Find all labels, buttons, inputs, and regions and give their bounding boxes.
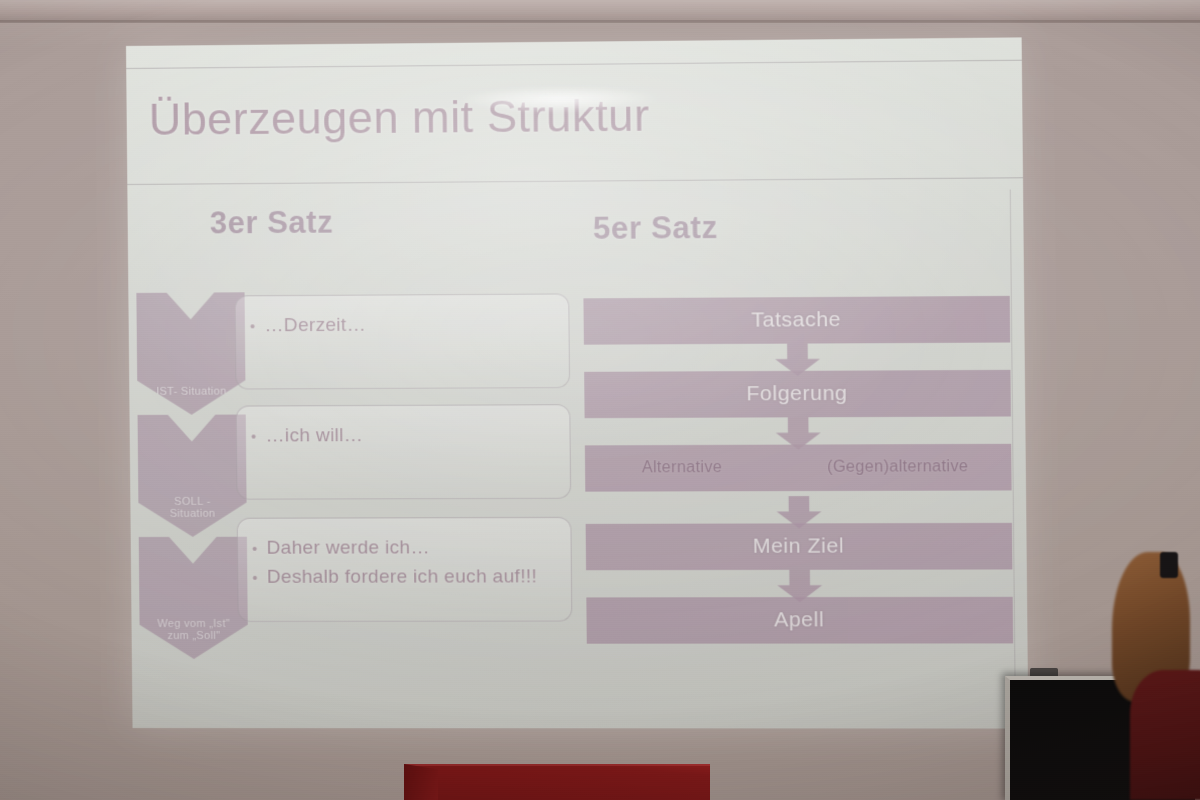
slide-title: Überzeugen mit Struktur	[148, 89, 649, 145]
chevron-label-soll: SOLL - Situation	[170, 495, 216, 520]
bar-label-mein-ziel: Mein Ziel	[752, 534, 844, 558]
bullet-glyph: •	[250, 319, 256, 334]
bullet-item: • Daher werde ich…	[252, 534, 555, 563]
projection-screen: Überzeugen mit Struktur 3er Satz 5er Sat…	[126, 37, 1028, 728]
header-rule-bottom	[127, 177, 1023, 185]
chevron-weg-ist-soll: Weg vom „Ist" zum „Soll"	[139, 537, 248, 659]
bar-label-tatsache: Tatsache	[751, 308, 841, 333]
label-alternative: Alternative	[642, 459, 722, 477]
bullet-text: Deshalb fordere ich euch auf!!!	[267, 563, 538, 592]
bullet-text: …Derzeit…	[264, 312, 366, 341]
wall-ceiling-trim	[0, 0, 1200, 22]
person-silhouette	[1112, 552, 1200, 800]
chevron-label-soll-line1: SOLL -	[174, 495, 210, 507]
bullet-item: • …ich will…	[251, 421, 554, 451]
bullet-glyph: •	[252, 570, 258, 585]
text-box-weg: • Daher werde ich… • Deshalb fordere ich…	[237, 517, 573, 622]
bar-folgerung: Folgerung	[584, 370, 1011, 418]
bullet-item: • …Derzeit…	[250, 311, 553, 341]
label-gegenalternative: (Gegen)alternative	[827, 458, 968, 477]
alternative-labels-row: Alternative (Gegen)alternative	[585, 447, 1012, 489]
person-body	[1130, 670, 1200, 800]
chevron-ist-situation: IST- Situation	[136, 292, 245, 415]
chevron-label-weg-line2: zum „Soll"	[167, 630, 220, 642]
red-box-furniture	[404, 764, 710, 800]
presentation-slide: Überzeugen mit Struktur 3er Satz 5er Sat…	[126, 37, 1028, 728]
column-heading-five-step: 5er Satz	[593, 210, 718, 247]
bar-mein-ziel: Mein Ziel	[586, 523, 1013, 570]
bullet-glyph: •	[252, 542, 258, 557]
chevron-label-weg: Weg vom „Ist" zum „Soll"	[157, 618, 230, 643]
header-rule-top	[126, 60, 1022, 69]
bar-apell: Apell	[586, 597, 1013, 644]
column-heading-three-step: 3er Satz	[210, 205, 334, 242]
chevron-label-weg-line1: Weg vom „Ist"	[157, 618, 230, 630]
wall-trim-line	[0, 20, 1200, 23]
bar-label-folgerung: Folgerung	[746, 382, 847, 407]
chevron-label-ist: IST- Situation	[156, 386, 226, 399]
bar-tatsache: Tatsache	[583, 296, 1010, 345]
text-box-ist: • …Derzeit…	[235, 293, 571, 389]
bar-label-apell: Apell	[774, 608, 824, 632]
chevron-label-soll-line2: Situation	[170, 508, 216, 520]
bullet-item: • Deshalb fordere ich euch auf!!!	[252, 563, 555, 592]
bullet-text: …ich will…	[265, 422, 363, 451]
bullet-glyph: •	[251, 430, 257, 445]
person-strap	[1160, 552, 1178, 578]
photo-scene: Überzeugen mit Struktur 3er Satz 5er Sat…	[0, 0, 1200, 800]
text-box-soll: • …ich will…	[236, 404, 572, 500]
chevron-soll-situation: SOLL - Situation	[138, 415, 247, 537]
bullet-text: Daher werde ich…	[267, 534, 430, 563]
